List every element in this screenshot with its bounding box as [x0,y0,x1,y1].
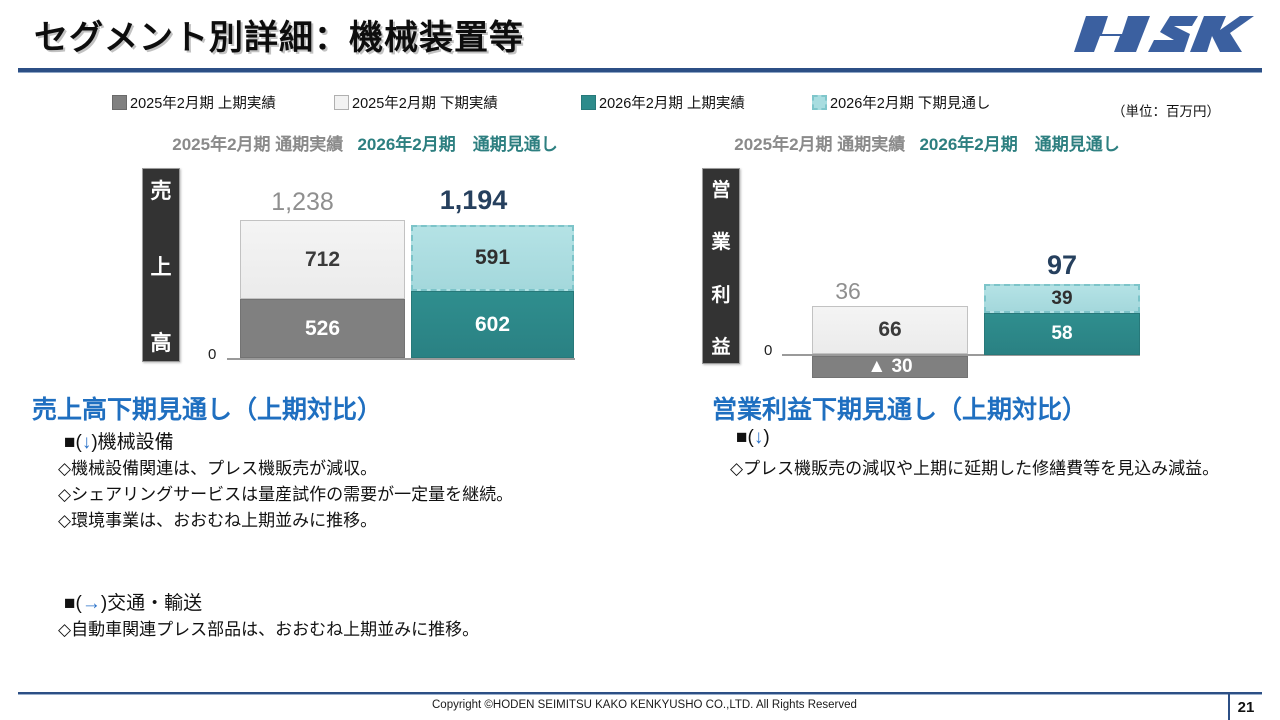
legend-swatch-icon [812,95,827,110]
legend-item-0: 2025年2月期 上期実績 [112,91,276,113]
down-arrow-icon: ↓ [754,427,764,448]
chart-op-total-prev: 36 [770,278,926,305]
section-title-op: 営業利益下期見通し（上期対比） [712,390,1087,426]
legend-label: 2026年2月期 下期見通し [830,92,990,113]
section-title-sales: 売上高下期見通し（上期対比） [32,390,382,426]
chart-op-seg-h1-prev-value: ▲ 30 [867,356,912,378]
unit-note: （単位：百万円） [1112,100,1220,120]
legend-item-2: 2026年2月期 上期実績 [581,91,745,113]
hsk-logo [1074,6,1254,58]
chart-op-bar-fy2026: 39 58 [984,284,1140,355]
header-divider-thin [18,72,1262,73]
chart-sales-seg-h1-cur: 602 [411,291,574,358]
chart-sales: 2025年2月期 通期実績 2026年2月期 通期見通し 売 上 高 0 1,2… [130,130,600,380]
legend-label: 2025年2月期 下期実績 [352,92,498,113]
chart-sales-bar-fy2026: 591 602 [411,225,574,358]
chart-sales-total-prev: 1,238 [220,188,385,217]
bullet-sales-1: ■(↓)機械設備 [64,427,174,454]
chart-op-bar-fy2025-negative: ▲ 30 [812,356,968,378]
bullet-marker: ■( [64,593,82,614]
chart-op-plot: 0 36 66 ▲ 30 97 39 58 [692,130,1162,385]
chart-sales-seg-h2-prev-value: 712 [305,248,340,272]
chart-legend: 2025年2月期 上期実績 2025年2月期 下期実績 2026年2月期 上期実… [112,91,1172,115]
chart-op-bar-fy2025-positive: 66 [812,306,968,354]
bullet-marker: ■( [64,432,82,453]
chart-op-seg-h1-cur-value: 58 [1051,323,1072,345]
sub-line-sales-2-1: ◇自動車関連プレス部品は、おおむね上期並みに推移。 [58,615,479,640]
chart-op-zero-label: 0 [764,342,772,359]
sub-line-sales-1-2: ◇シェアリングサービスは量産試作の需要が一定量を継続。 [58,480,513,505]
chart-op-seg-h1-cur: 58 [984,313,1140,355]
chart-sales-bar-fy2025: 712 526 [240,220,405,358]
page-title: セグメント別詳細：機械装置等 [34,10,524,59]
page-number: 21 [1228,694,1262,720]
chart-sales-seg-h1-prev-value: 526 [305,317,340,341]
chart-sales-seg-h1-cur-value: 602 [475,313,510,337]
chart-sales-zero-label: 0 [208,346,216,363]
sub-line-op-1-1: ◇プレス機販売の減収や上期に延期した修繕費等を見込み減益。 [730,454,1219,479]
chart-operating-profit: 2025年2月期 通期実績 2026年2月期 通期見通し 営 業 利 益 0 3… [692,130,1162,380]
slide-root: セグメント別詳細：機械装置等 2025年2月期 上期実績 2025年2月期 下期… [0,0,1280,720]
bullet-text: )機械設備 [91,432,173,453]
hsk-logo-icon [1074,6,1254,58]
chart-sales-total-cur: 1,194 [392,185,555,216]
chart-sales-seg-h2-prev: 712 [240,220,405,299]
chart-op-seg-h2-cur-value: 39 [1051,288,1072,310]
chart-sales-seg-h2-cur-value: 591 [475,246,510,270]
right-arrow-icon: → [82,593,101,614]
legend-swatch-icon [334,95,349,110]
sub-line-sales-1-1: ◇機械設備関連は、プレス機販売が減収。 [58,454,377,479]
chart-op-seg-h1-prev: ▲ 30 [812,356,968,378]
chart-sales-seg-h1-prev: 526 [240,299,405,358]
chart-op-seg-h2-prev-value: 66 [878,318,901,342]
legend-item-3: 2026年2月期 下期見通し [812,91,990,113]
legend-label: 2026年2月期 上期実績 [599,92,745,113]
bullet-text: ) [763,427,769,448]
bullet-op-1: ■(↓) [736,427,770,449]
bullet-marker: ■( [736,427,754,448]
footer-divider-thin [18,694,1262,695]
bullet-sales-2: ■(→)交通・輸送 [64,588,202,615]
legend-swatch-icon [581,95,596,110]
down-arrow-icon: ↓ [82,432,92,453]
chart-op-seg-h2-prev: 66 [812,306,968,354]
chart-op-seg-h2-cur: 39 [984,284,1140,313]
sub-line-sales-1-3: ◇環境事業は、おおむね上期並みに推移。 [58,506,377,531]
chart-sales-seg-h2-cur: 591 [411,225,574,291]
bullet-text: )交通・輸送 [101,593,202,614]
chart-op-total-cur: 97 [984,250,1140,281]
chart-sales-zero-axis [227,358,575,360]
legend-swatch-icon [112,95,127,110]
slide-header: セグメント別詳細：機械装置等 [0,0,1280,68]
copyright-text: Copyright ©HODEN SEIMITSU KAKO KENKYUSHO… [432,699,857,711]
legend-label: 2025年2月期 上期実績 [130,92,276,113]
chart-sales-plot: 0 1,238 712 526 1,194 591 602 [130,130,600,380]
legend-item-1: 2025年2月期 下期実績 [334,91,498,113]
